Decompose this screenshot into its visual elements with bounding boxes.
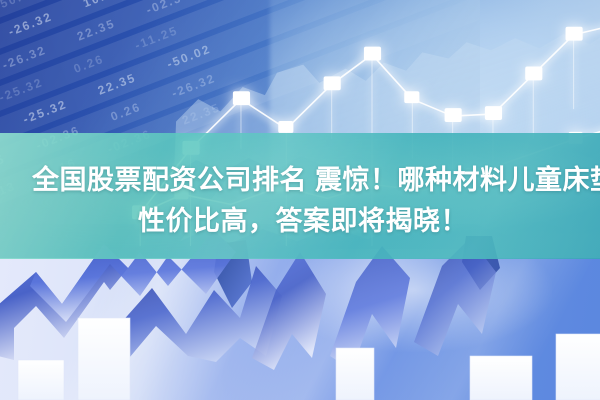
ticker-value: 10.02: [81, 0, 123, 10]
headline-line-2: 性价比高，答案即将揭晓！: [24, 201, 576, 242]
ticker-value: -25.32: [0, 75, 45, 105]
ticker-value: -26.32: [6, 9, 54, 39]
ticker-value: -25.32: [21, 96, 69, 126]
headline-line-1: 全国股票配资公司排名 震惊！哪种材料儿童床垫: [24, 160, 576, 201]
trend-arrow-graphics: [0, 238, 600, 400]
stock-promo-banner: -02.35-11.25+45.02-02.3621.36-02.36+45.0…: [0, 0, 600, 400]
headline-block: 全国股票配资公司排名 震惊！哪种材料儿童床垫 性价比高，答案即将揭晓！: [0, 160, 600, 242]
ticker-value: -26.32: [0, 42, 48, 72]
ticker-value: 0.26: [72, 51, 106, 75]
ticker-value: 22.35: [75, 16, 117, 43]
